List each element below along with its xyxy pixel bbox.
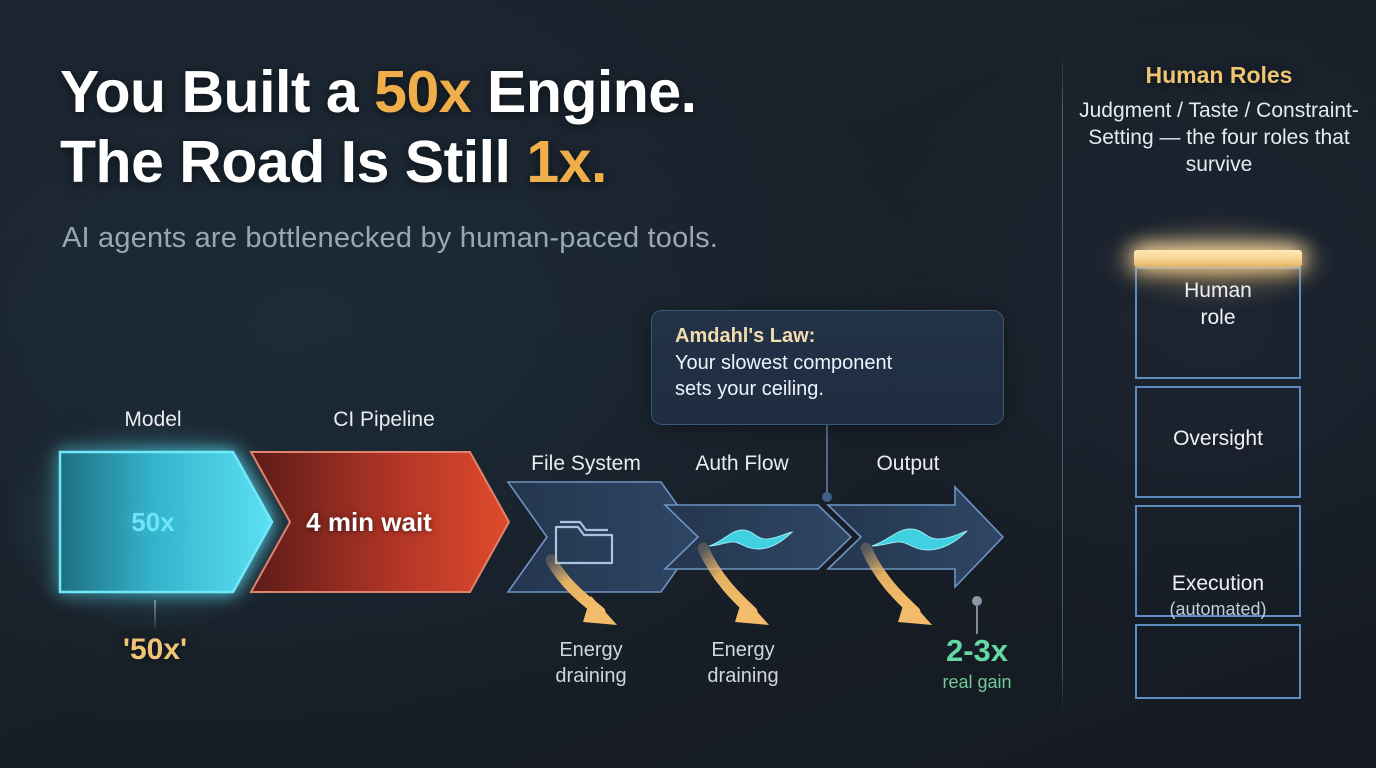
infographic-canvas: You Built a 50x Engine. The Road Is Stil… bbox=[0, 0, 1376, 768]
callout-body: Your slowest component sets your ceiling… bbox=[675, 350, 983, 403]
amdahls-law-callout: Amdahl's Law: Your slowest component set… bbox=[651, 310, 1004, 425]
page-title: You Built a 50x Engine. The Road Is Stil… bbox=[60, 58, 697, 197]
real-gain-value: 2-3x bbox=[902, 633, 1052, 669]
callout-connector bbox=[822, 425, 832, 502]
panel-title: Human Roles bbox=[1062, 62, 1376, 89]
wave-icon-output bbox=[872, 529, 967, 550]
headline-line1-part-b: Engine. bbox=[471, 59, 696, 125]
stage-label-auth-flow: Auth Flow bbox=[668, 452, 816, 476]
panel-subtitle: Judgment / Taste / Constraint-Setting — … bbox=[1062, 98, 1376, 179]
ladder-rung-execution-main: Execution bbox=[1172, 572, 1264, 595]
ladder-rung-highlight bbox=[1134, 250, 1302, 267]
headline-line-2: The Road Is Still 1x. bbox=[60, 128, 697, 198]
drain-arrow-file-system bbox=[551, 560, 617, 625]
chevron-ci-value-wrap: 4 min wait bbox=[251, 452, 509, 592]
ladder-rung-label-human-role: Human role bbox=[1136, 278, 1300, 332]
headline-accent-1x: 1x bbox=[526, 129, 591, 195]
stage-label-model: Model bbox=[86, 408, 220, 432]
chevron-model-value: 50x bbox=[60, 452, 272, 592]
real-gain-label: real gain bbox=[902, 672, 1052, 693]
ladder-rung-label-execution: Execution (automated) bbox=[1136, 544, 1300, 648]
headline-line2-part-a: The Road Is Still bbox=[60, 129, 526, 195]
page-subtitle: AI agents are bottlenecked by human-pace… bbox=[62, 222, 718, 255]
ladder-rung-execution-sub: (automated) bbox=[1136, 598, 1300, 621]
chevron-auth-flow bbox=[665, 505, 851, 569]
callout-title: Amdahl's Law: bbox=[675, 325, 983, 348]
drain-caption-auth-flow: Energy draining bbox=[668, 638, 818, 689]
chevron-model-value-wrap: 50x bbox=[60, 452, 272, 592]
chevron-output bbox=[828, 487, 1003, 587]
folder-icon bbox=[556, 522, 612, 563]
headline-accent-50x: 50x bbox=[374, 59, 471, 125]
model-caption-tick bbox=[154, 600, 156, 628]
stage-label-output: Output bbox=[834, 452, 982, 476]
headline-line1-part-a: You Built a bbox=[60, 59, 374, 125]
stage-label-file-system: File System bbox=[512, 452, 660, 476]
model-caption: '50x' bbox=[80, 633, 230, 667]
headline-line2-part-b: . bbox=[591, 129, 607, 195]
drain-arrow-output bbox=[866, 548, 932, 625]
chevron-file-system bbox=[508, 482, 700, 592]
chevron-ci-value: 4 min wait bbox=[251, 452, 509, 592]
headline-line-1: You Built a 50x Engine. bbox=[60, 58, 697, 128]
ladder-rung-label-oversight: Oversight bbox=[1136, 426, 1300, 453]
wave-icon-auth bbox=[709, 530, 792, 549]
gain-connector bbox=[972, 596, 982, 634]
stage-label-ci-pipeline: CI Pipeline bbox=[310, 408, 458, 432]
drain-caption-file-system: Energy draining bbox=[516, 638, 666, 689]
drain-arrow-auth-flow bbox=[703, 548, 769, 625]
